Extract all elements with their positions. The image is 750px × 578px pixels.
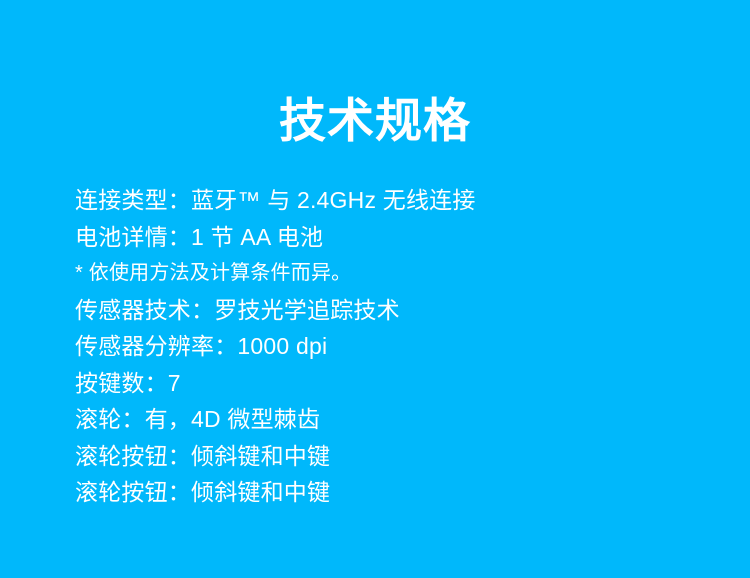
spec-line-battery-details: 电池详情：1 节 AA 电池 (75, 219, 675, 256)
spec-line-scroll-wheel-button-1: 滚轮按钮：倾斜键和中键 (75, 438, 675, 475)
spec-line-sensor-technology: 传感器技术：罗技光学追踪技术 (75, 292, 675, 329)
spec-line-scroll-wheel: 滚轮：有，4D 微型棘齿 (75, 401, 675, 438)
spec-line-sensor-resolution: 传感器分辨率：1000 dpi (75, 328, 675, 365)
spec-line-connection-type: 连接类型：蓝牙™ 与 2.4GHz 无线连接 (75, 182, 675, 219)
spec-line-scroll-wheel-button-2: 滚轮按钮：倾斜键和中键 (75, 474, 675, 511)
tech-specs-panel: 技术规格 连接类型：蓝牙™ 与 2.4GHz 无线连接 电池详情：1 节 AA … (0, 0, 750, 578)
spec-line-button-count: 按键数：7 (75, 365, 675, 402)
page-title: 技术规格 (0, 93, 750, 149)
spec-line-battery-footnote: * 依使用方法及计算条件而异。 (75, 255, 675, 292)
spec-list: 连接类型：蓝牙™ 与 2.4GHz 无线连接 电池详情：1 节 AA 电池 * … (75, 182, 675, 511)
